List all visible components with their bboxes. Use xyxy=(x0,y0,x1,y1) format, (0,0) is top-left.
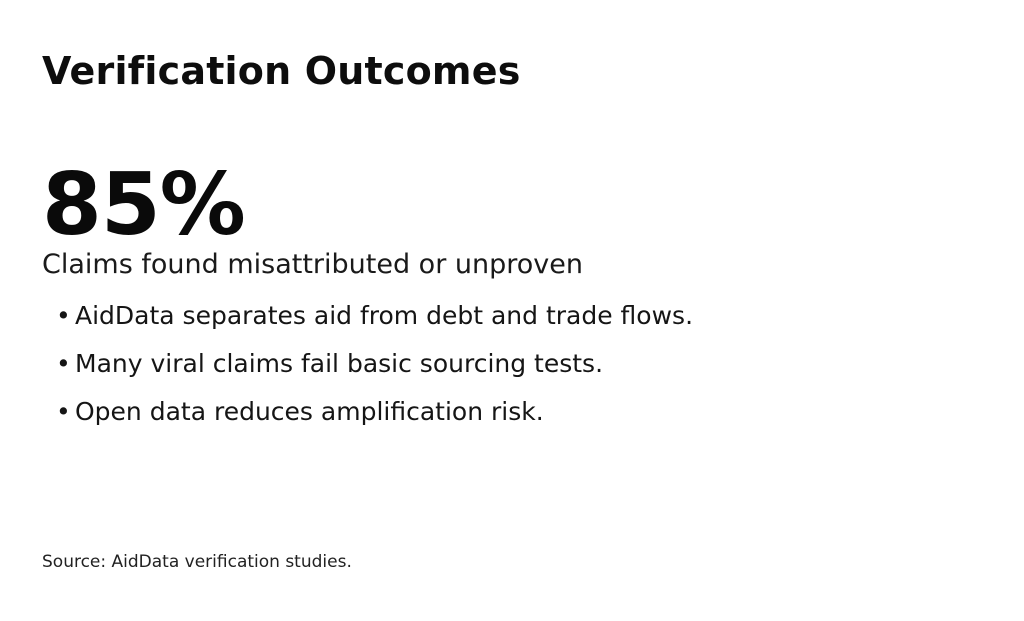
list-item-label: Open data reduces amplification risk. xyxy=(75,397,544,426)
page-title: Verification Outcomes xyxy=(42,50,521,93)
list-item: • Many viral claims fail basic sourcing … xyxy=(42,351,942,376)
list-item: • Open data reduces amplification risk. xyxy=(42,399,942,424)
stat-value: 85% xyxy=(42,166,922,245)
bullet-icon: • xyxy=(56,351,71,376)
source-note: Source: AidData verification studies. xyxy=(42,552,352,572)
list-item: • AidData separates aid from debt and tr… xyxy=(42,303,942,328)
list-item-label: AidData separates aid from debt and trad… xyxy=(75,301,693,330)
bullet-icon: • xyxy=(56,303,71,328)
headline-stat-block: 85% Claims found misattributed or unprov… xyxy=(42,166,922,280)
bullet-list: • AidData separates aid from debt and tr… xyxy=(42,303,942,424)
list-item-label: Many viral claims fail basic sourcing te… xyxy=(75,349,603,378)
stat-caption: Claims found misattributed or unproven xyxy=(42,249,922,280)
bullet-icon: • xyxy=(56,399,71,424)
slide-canvas: Verification Outcomes 85% Claims found m… xyxy=(0,0,1024,621)
